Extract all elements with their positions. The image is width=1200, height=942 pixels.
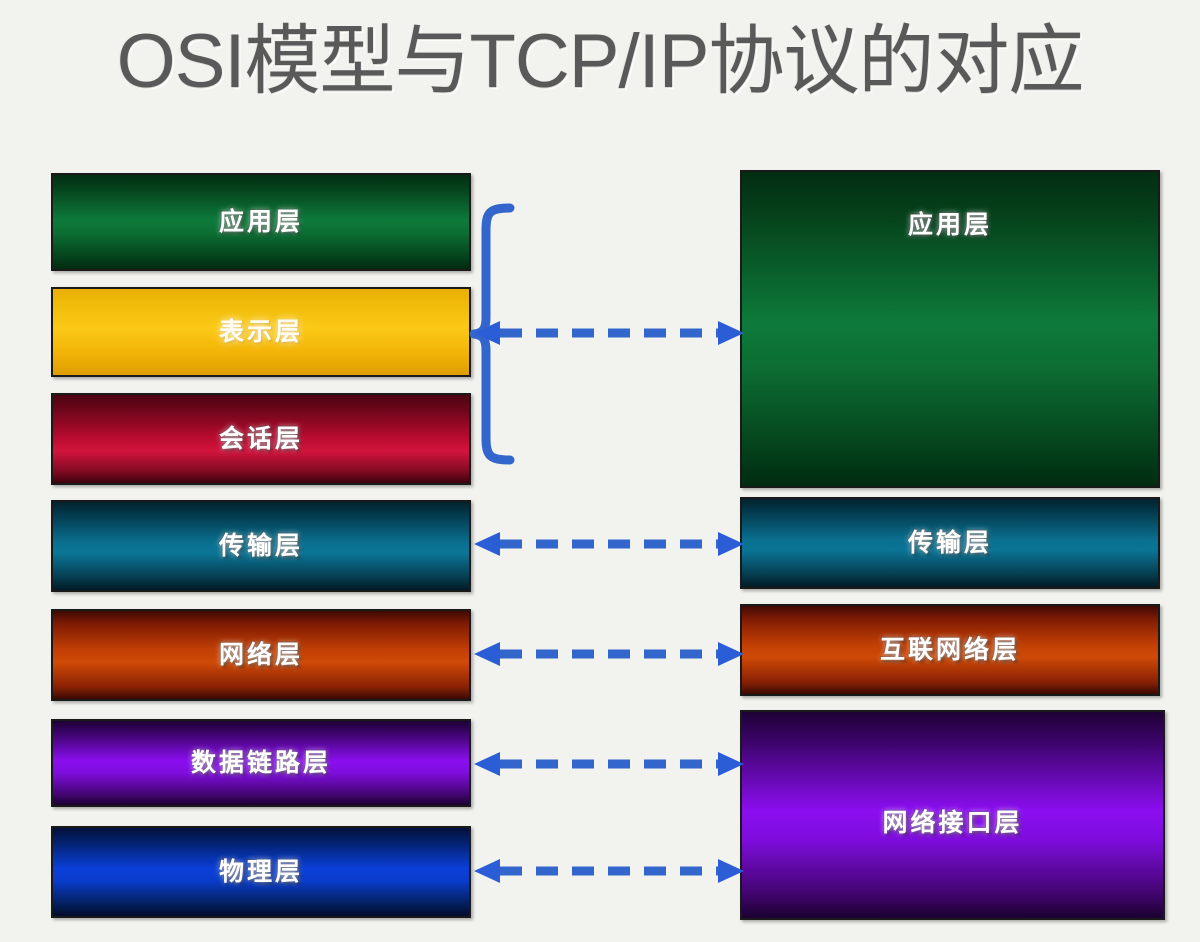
osi-layer-physical[interactable]: 物理层 [51, 826, 471, 918]
osi-layer-presentation[interactable]: 表示层 [51, 287, 471, 377]
osi-layer-application[interactable]: 应用层 [51, 173, 471, 271]
slide-canvas: OSI模型与TCP/IP协议的对应 应用层 表示层 会话层 传输层 网络层 数据… [0, 0, 1200, 942]
osi-layer-application-label: 应用层 [53, 207, 469, 237]
osi-layer-transport-label: 传输层 [53, 531, 469, 561]
connector-arrow-datalink [474, 749, 744, 781]
osi-layer-physical-label: 物理层 [53, 857, 469, 887]
tcpip-layer-application-label: 应用层 [742, 210, 1158, 240]
osi-layer-session-label: 会话层 [53, 424, 469, 454]
tcpip-layer-internet[interactable]: 互联网络层 [740, 604, 1160, 696]
tcpip-layer-network-interface[interactable]: 网络接口层 [740, 710, 1165, 920]
tcpip-layer-transport-label: 传输层 [742, 528, 1158, 558]
tcpip-layer-application[interactable]: 应用层 [740, 170, 1160, 488]
tcpip-layer-internet-label: 互联网络层 [742, 635, 1158, 665]
osi-layer-datalink-label: 数据链路层 [53, 748, 469, 778]
connector-arrow-application [474, 318, 744, 350]
page-title: OSI模型与TCP/IP协议的对应 [0, 14, 1200, 110]
connector-arrow-network [474, 639, 744, 671]
osi-layer-network-label: 网络层 [53, 640, 469, 670]
osi-layer-presentation-label: 表示层 [53, 317, 469, 347]
tcpip-layer-transport[interactable]: 传输层 [740, 497, 1160, 589]
osi-layer-transport[interactable]: 传输层 [51, 500, 471, 592]
osi-layer-datalink[interactable]: 数据链路层 [51, 719, 471, 807]
connector-arrow-physical [474, 856, 744, 888]
osi-layer-network[interactable]: 网络层 [51, 609, 471, 701]
osi-layer-session[interactable]: 会话层 [51, 393, 471, 485]
tcpip-layer-network-interface-label: 网络接口层 [742, 808, 1163, 838]
connector-arrow-transport [474, 529, 744, 561]
